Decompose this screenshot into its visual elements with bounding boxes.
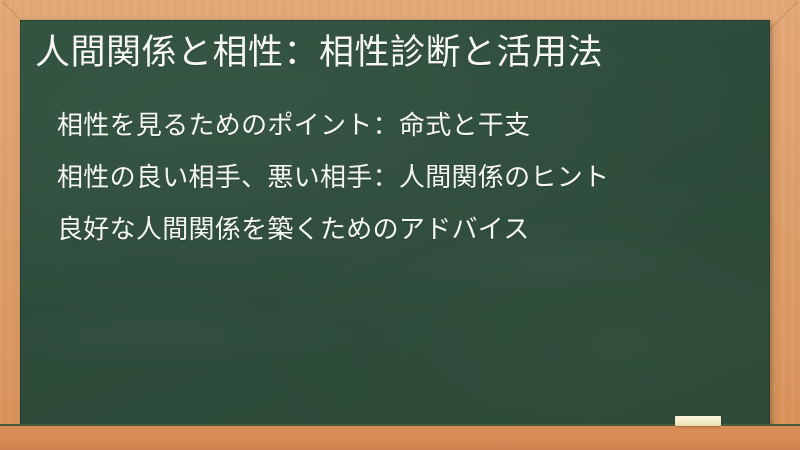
bullet-item: 良好な人間関係を築くためのアドバイス (57, 204, 760, 256)
blackboard-content: 人間関係と相性：相性診断と活用法 相性を見るためのポイント：命式と干支 相性の良… (20, 20, 770, 425)
bullet-item: 相性を見るためのポイント：命式と干支 (57, 100, 760, 152)
blackboard-surface: 人間関係と相性：相性診断と活用法 相性を見るためのポイント：命式と干支 相性の良… (20, 20, 770, 425)
blackboard-frame: 人間関係と相性：相性診断と活用法 相性を見るためのポイント：命式と干支 相性の良… (0, 0, 800, 450)
chalk-stick-icon (675, 416, 721, 426)
slide-title: 人間関係と相性：相性診断と活用法 (35, 29, 603, 77)
chalk-ledge (0, 424, 800, 450)
bullet-item: 相性の良い相手、悪い相手：人間関係のヒント (57, 152, 760, 204)
bullet-list: 相性を見るためのポイント：命式と干支 相性の良い相手、悪い相手：人間関係のヒント… (57, 100, 760, 256)
